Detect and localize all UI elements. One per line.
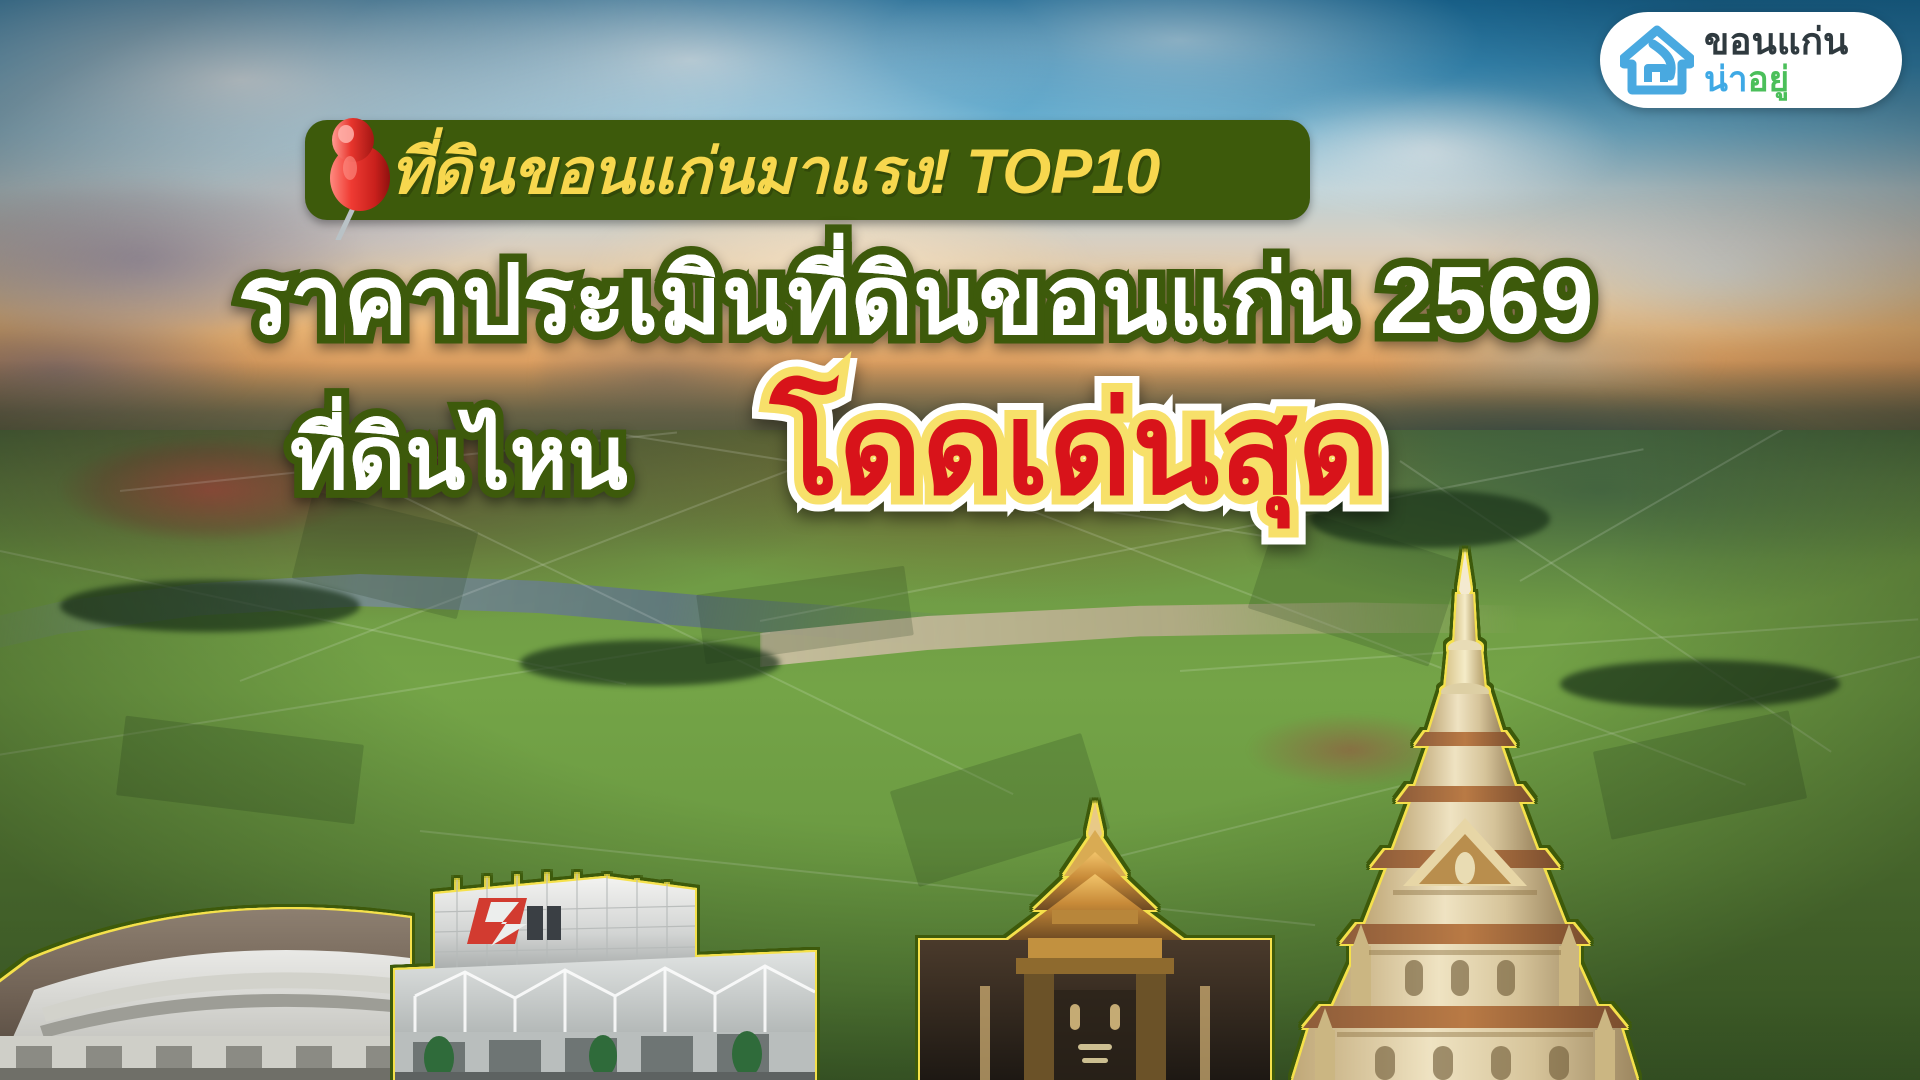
- stadium-icon: [0, 840, 410, 1080]
- brand-name-line2-green: อยู่: [1748, 60, 1790, 99]
- treeline-1: [60, 580, 360, 632]
- ribbon-headline-text: ที่ดินขอนแก่นมาแรง! TOP10: [390, 130, 1330, 214]
- brand-name-line2: น่าอยู่: [1704, 62, 1848, 97]
- brand-wordmark: ขอนแก่น น่าอยู่: [1704, 23, 1848, 97]
- shopping-mall-icon: [395, 820, 815, 1080]
- landmark-ratchaphruek-gateway: [920, 790, 1270, 1080]
- brand-logo-pill[interactable]: ขอนแก่น น่าอยู่: [1600, 12, 1902, 108]
- pushpin-icon: [312, 110, 402, 240]
- headline-line2-fill: ราคาประเมินที่ดินขอนแก่น 2569: [238, 253, 1593, 349]
- landmark-central-plaza-mall: [395, 820, 815, 1080]
- headline-line3-right-fill: โดดเด่นสุด: [770, 386, 1381, 514]
- pagoda-temple-icon: [1265, 550, 1665, 1080]
- headline-line3-left-fill: ที่ดินไหน: [290, 414, 628, 502]
- treeline-2: [520, 640, 780, 686]
- poster-canvas: ที่ดินขอนแก่นมาแรง! TOP10 ราคาประเมินที่…: [0, 0, 1920, 1080]
- gateway-arch-icon: [920, 790, 1270, 1080]
- landmark-khon-kaen-stadium: [0, 840, 410, 1080]
- brand-name-line1: ขอนแก่น: [1704, 23, 1848, 60]
- landmark-wat-nong-wang-pagoda: [1265, 550, 1665, 1080]
- brand-name-line2-blue: น่า: [1704, 60, 1748, 99]
- house-logo-icon: [1620, 24, 1694, 96]
